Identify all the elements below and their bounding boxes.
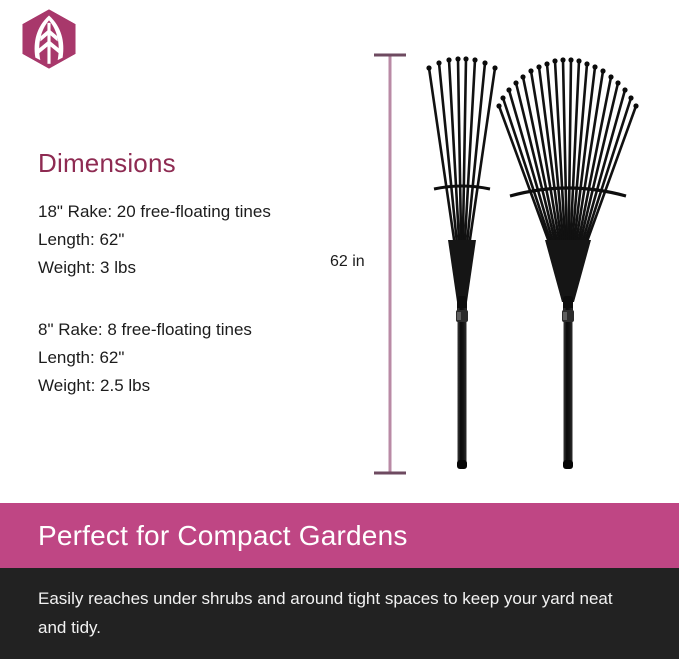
8-inch-rake [426, 56, 497, 469]
headline-banner: Perfect for Compact Gardens [0, 503, 679, 568]
measurement-label: 62 in [330, 253, 365, 271]
two-garden-rakes-photo [412, 44, 647, 476]
spec-line: Weight: 2.5 lbs [38, 372, 338, 400]
measurement-ruler-icon [372, 50, 408, 478]
page-title: Dimensions [38, 150, 338, 176]
spec-line: 8" Rake: 8 free-floating tines [38, 316, 338, 344]
spec-group-small-rake: 8" Rake: 8 free-floating tines Length: 6… [38, 316, 338, 400]
spec-line: Weight: 3 lbs [38, 254, 338, 282]
spec-line: Length: 62" [38, 344, 338, 372]
headline-text: Perfect for Compact Gardens [0, 520, 408, 552]
spec-line: 18" Rake: 20 free-floating tines [38, 198, 338, 226]
product-infographic-page: Dimensions 18" Rake: 20 free-floating ti… [0, 0, 679, 659]
spec-line: Length: 62" [38, 226, 338, 254]
description-text: Easily reaches under shrubs and around t… [38, 584, 638, 642]
spec-group-large-rake: 18" Rake: 20 free-floating tines Length:… [38, 198, 338, 282]
hexagon-leaf-logo-icon [18, 8, 80, 70]
18-inch-rake [496, 57, 638, 469]
description-banner: Easily reaches under shrubs and around t… [0, 568, 679, 659]
specifications-panel: Dimensions 18" Rake: 20 free-floating ti… [38, 150, 338, 434]
